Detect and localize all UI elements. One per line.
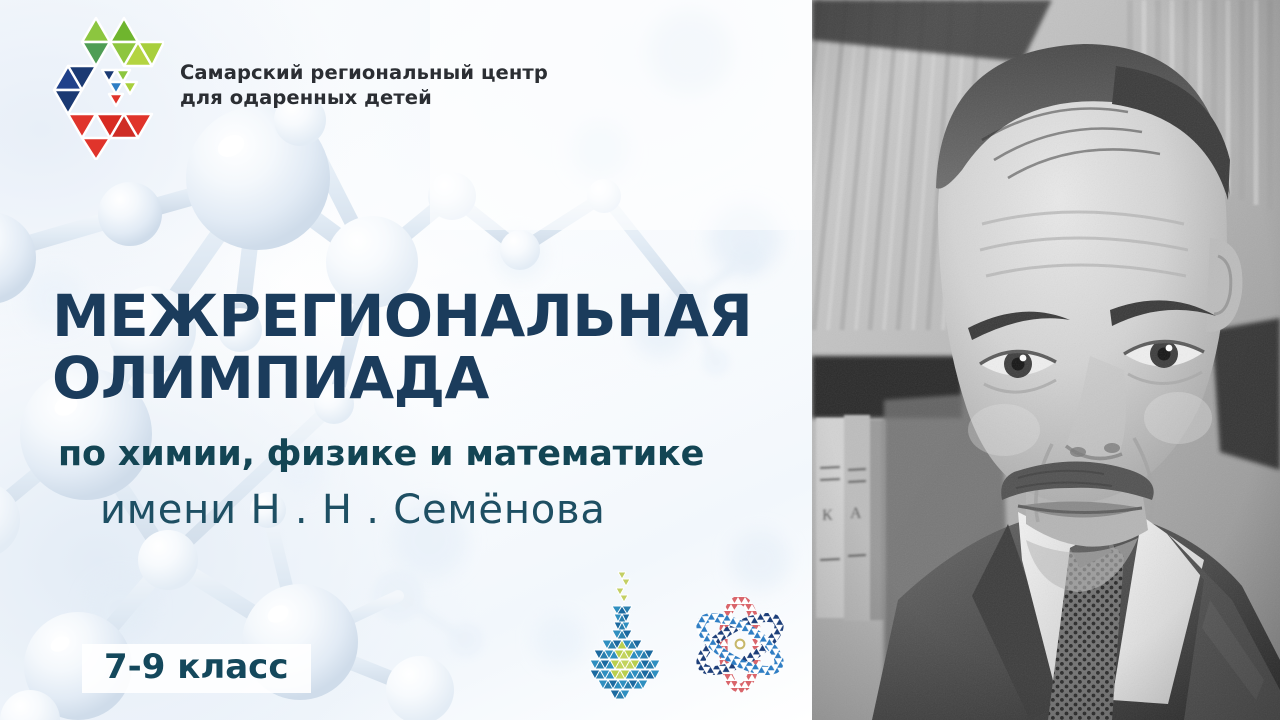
- flask-emblem-icon: [578, 568, 670, 704]
- subtitle-subjects: по химии, физике и математике: [58, 434, 704, 474]
- portrait-photo: К А: [812, 0, 1280, 720]
- brand-logo[interactable]: Самарский региональный центр для одаренн…: [52, 12, 548, 160]
- poster-canvas: Самарский региональный центр для одаренн…: [0, 0, 1280, 720]
- emblem-row: [578, 568, 784, 704]
- brand-name-line-2: для одаренных детей: [180, 86, 548, 111]
- title-line-2: ОЛИМПИАДА: [52, 350, 752, 407]
- samara-center-hexagon-logo-icon: [52, 12, 164, 160]
- left-content-panel: Самарский региональный центр для одаренн…: [0, 0, 812, 720]
- grade-badge: 7-9 класс: [82, 644, 311, 693]
- atom-emblem-icon: [696, 590, 784, 698]
- subtitle-honoree: имени Н . Н . Семёнова: [100, 487, 606, 533]
- brand-name-line-1: Самарский региональный центр: [180, 61, 548, 86]
- page-title: МЕЖРЕГИОНАЛЬНАЯ ОЛИМПИАДА: [52, 288, 752, 408]
- title-line-1: МЕЖРЕГИОНАЛЬНАЯ: [52, 288, 752, 345]
- brand-name: Самарский региональный центр для одаренн…: [180, 61, 548, 110]
